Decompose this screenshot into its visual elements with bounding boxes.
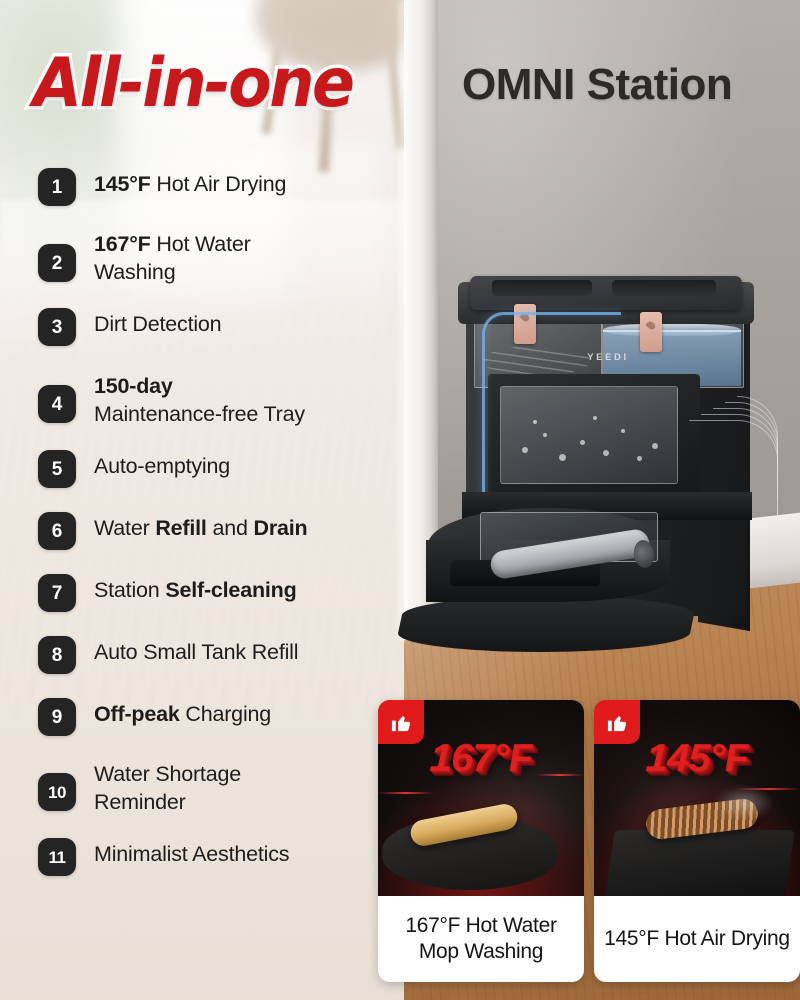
card-hot-air-drying: 145°F 145°F Hot Air Drying <box>594 700 800 982</box>
feature-label: 167°F Hot Water Washing <box>94 228 299 286</box>
feature-number-badge: 7 <box>38 574 76 612</box>
feature-number-badge: 10 <box>38 773 76 811</box>
feature-number-badge: 6 <box>38 512 76 550</box>
product-infographic: YEEDI <box>0 0 800 1000</box>
thumbs-up-icon <box>594 700 640 744</box>
feature-body: Water <box>94 516 155 540</box>
tank-handle-right <box>640 312 662 352</box>
feature-item-2: 2 167°F Hot Water Washing <box>38 228 388 286</box>
feature-list: 1 145°F Hot Air Drying 2 167°F Hot Water… <box>38 168 388 876</box>
tank-water-surface <box>603 324 741 336</box>
drying-tray-prop <box>605 830 794 896</box>
feature-label: Water Refill and Drain <box>94 512 308 543</box>
feature-number-badge: 5 <box>38 450 76 488</box>
thumbs-up-icon <box>378 700 424 744</box>
feature-item-6: 6 Water Refill and Drain <box>38 512 388 550</box>
water-drop-icon <box>645 320 656 331</box>
feature-item-9: 9 Off-peak Charging <box>38 698 388 736</box>
feature-prefix: Off-peak <box>94 702 180 726</box>
card-photo: 145°F <box>594 700 800 896</box>
feature-item-1: 1 145°F Hot Air Drying <box>38 168 388 206</box>
feature-body: Hot Air Drying <box>151 172 287 196</box>
card-hot-water-mop-washing: 167°F 167°F Hot Water Mop Washing <box>378 700 584 982</box>
feature-item-4: 4 150-day Maintenance-free Tray <box>38 370 388 428</box>
feature-number-badge: 2 <box>38 244 76 282</box>
feature-number-badge: 1 <box>38 168 76 206</box>
card-photo: 167°F <box>378 700 584 896</box>
feature-item-8: 8 Auto Small Tank Refill <box>38 636 388 674</box>
feature-bold-end: Self-cleaning <box>165 578 296 602</box>
card-caption: 167°F Hot Water Mop Washing <box>378 896 584 982</box>
feature-number-badge: 11 <box>38 838 76 876</box>
lid-groove-right <box>612 280 716 296</box>
feature-item-11: 11 Minimalist Aesthetics <box>38 838 388 876</box>
feature-item-3: 3 Dirt Detection <box>38 308 388 346</box>
feature-prefix: 167°F <box>94 232 151 256</box>
robot-vacuum <box>420 508 690 626</box>
feature-prefix: 150-day <box>94 374 173 398</box>
page-title: All-in-one OMNI Station <box>0 48 800 124</box>
feature-mid: and <box>207 516 254 540</box>
feature-label: Off-peak Charging <box>94 698 271 729</box>
feature-prefix: 145°F <box>94 172 151 196</box>
title-highlight: All-in-one <box>33 44 353 123</box>
feature-item-10: 10 Water Shortage Reminder <box>38 758 388 816</box>
feature-label: 150-day Maintenance-free Tray <box>94 370 305 428</box>
feature-label: Auto Small Tank Refill <box>94 636 298 667</box>
feature-label: Station Self-cleaning <box>94 574 297 605</box>
feature-label: Water Shortage Reminder <box>94 758 284 816</box>
feature-label: Auto-emptying <box>94 450 230 481</box>
lid-groove-left <box>492 280 592 296</box>
feature-label: Dirt Detection <box>94 308 221 339</box>
title-rest: OMNI Station <box>462 60 732 110</box>
feature-item-5: 5 Auto-emptying <box>38 450 388 488</box>
feature-body: Maintenance-free Tray <box>94 402 305 426</box>
feature-body: Charging <box>180 702 271 726</box>
card-caption: 145°F Hot Air Drying <box>594 896 800 982</box>
feature-number-badge: 8 <box>38 636 76 674</box>
feature-body: Station <box>94 578 165 602</box>
feature-item-7: 7 Station Self-cleaning <box>38 574 388 612</box>
laser-line <box>378 792 434 794</box>
feature-number-badge: 3 <box>38 308 76 346</box>
feature-cards: 167°F 167°F Hot Water Mop Washing 145°F … <box>378 700 800 990</box>
feature-bold-end: Drain <box>254 516 308 540</box>
feature-bold-mid: Refill <box>155 516 206 540</box>
feature-label: 145°F Hot Air Drying <box>94 168 286 199</box>
feature-number-badge: 4 <box>38 385 76 423</box>
feature-label: Minimalist Aesthetics <box>94 838 289 869</box>
steam-puff <box>714 786 774 820</box>
feature-number-badge: 9 <box>38 698 76 736</box>
